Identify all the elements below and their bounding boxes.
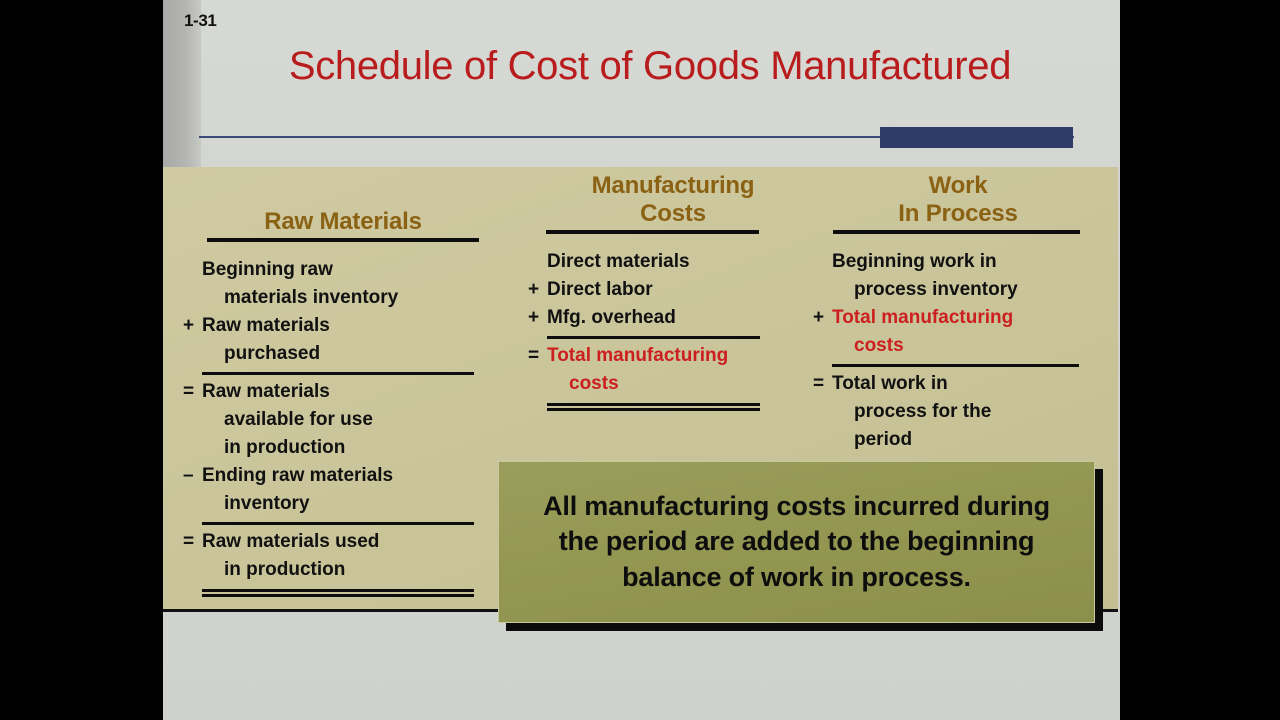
schedule-line-item: =Total manufacturing	[528, 342, 818, 370]
line-item-label: Raw materials	[202, 312, 330, 340]
column-heading-rule	[833, 230, 1080, 234]
line-item-operator: =	[183, 378, 202, 406]
schedule-line-item: =Raw materials	[183, 378, 503, 406]
line-item-operator: =	[528, 342, 547, 370]
subtotal-rule	[832, 364, 1079, 367]
line-item-label: Raw materials	[202, 378, 330, 406]
schedule-line-item: Direct materials	[528, 248, 818, 276]
column-heading-line: Costs	[528, 200, 818, 228]
line-item-label: Ending raw materials	[202, 462, 393, 490]
line-item-label: process for the	[832, 398, 991, 426]
line-item-label: period	[832, 426, 912, 454]
schedule-line-item: costs	[547, 370, 818, 398]
line-item-label: inventory	[202, 490, 310, 518]
slide-number: 1-31	[184, 11, 216, 31]
schedule-line-item: available for use	[202, 406, 503, 434]
schedule-line-item: +Mfg. overhead	[528, 304, 818, 332]
line-item-label: Total manufacturing	[832, 304, 1013, 332]
subtotal-rule	[202, 522, 474, 525]
schedule-line-item: in production	[202, 556, 503, 584]
line-item-operator: –	[183, 462, 202, 490]
schedule-line-item: costs	[832, 332, 1103, 360]
header-accent-block	[880, 127, 1073, 148]
column-raw-materials: Raw MaterialsBeginning rawmaterials inve…	[183, 167, 503, 592]
total-double-rule	[547, 403, 760, 406]
line-item-label: Total manufacturing	[547, 342, 728, 370]
line-item-label: process inventory	[832, 276, 1018, 304]
line-item-label: available for use	[202, 406, 373, 434]
column-heading: WorkIn Process	[813, 167, 1103, 228]
column-heading-rule	[546, 230, 759, 234]
line-item-label: Raw materials used	[202, 528, 379, 556]
presentation-slide: 1-31 Schedule of Cost of Goods Manufactu…	[0, 0, 1280, 720]
line-item-operator: +	[528, 304, 547, 332]
schedule-line-item: +Direct labor	[528, 276, 818, 304]
page-title: Schedule of Cost of Goods Manufactured	[200, 44, 1100, 89]
line-item-label: Total work in	[832, 370, 948, 398]
line-item-label: Beginning raw	[202, 256, 333, 284]
schedule-line-item: +Total manufacturing	[813, 304, 1103, 332]
subtotal-rule	[547, 336, 760, 339]
schedule-line-items: Beginning rawmaterials inventory+Raw mat…	[183, 256, 503, 592]
column-heading-line: Raw Materials	[183, 208, 503, 236]
line-item-label: Mfg. overhead	[547, 304, 676, 332]
total-double-rule	[202, 589, 474, 592]
column-manufacturing-costs: ManufacturingCostsDirect materials+Direc…	[528, 167, 818, 406]
line-item-label: in production	[202, 434, 345, 462]
callout-box: All manufacturing costs incurred during …	[498, 461, 1095, 623]
callout-text: All manufacturing costs incurred during …	[499, 489, 1094, 594]
line-item-label: costs	[832, 332, 904, 360]
line-item-label: in production	[202, 556, 345, 584]
schedule-line-item: Beginning raw	[183, 256, 503, 284]
schedule-line-item: –Ending raw materials	[183, 462, 503, 490]
column-heading-line: In Process	[813, 200, 1103, 228]
schedule-line-items: Beginning work inprocess inventory+Total…	[813, 248, 1103, 454]
schedule-line-item: materials inventory	[202, 284, 503, 312]
schedule-line-item: =Total work in	[813, 370, 1103, 398]
line-item-label: Direct labor	[547, 276, 653, 304]
column-heading-line: Work	[813, 172, 1103, 200]
column-heading-rule	[207, 238, 479, 242]
line-item-label: Beginning work in	[832, 248, 997, 276]
line-item-operator: +	[813, 304, 832, 332]
line-item-label: purchased	[202, 340, 320, 368]
line-item-label: Direct materials	[547, 248, 690, 276]
line-item-operator: +	[183, 312, 202, 340]
line-item-operator: +	[528, 276, 547, 304]
line-item-operator: =	[813, 370, 832, 398]
schedule-line-item: +Raw materials	[183, 312, 503, 340]
schedule-line-item: Beginning work in	[813, 248, 1103, 276]
schedule-line-item: purchased	[202, 340, 503, 368]
subtotal-rule	[202, 372, 474, 375]
line-item-operator: =	[183, 528, 202, 556]
column-work-in-process: WorkIn ProcessBeginning work inprocess i…	[813, 167, 1103, 454]
column-heading-line: Manufacturing	[528, 172, 818, 200]
column-heading: Raw Materials	[183, 167, 503, 236]
schedule-line-item: process inventory	[832, 276, 1103, 304]
schedule-line-item: process for the	[832, 398, 1103, 426]
schedule-line-items: Direct materials+Direct labor+Mfg. overh…	[528, 248, 818, 406]
schedule-line-item: inventory	[202, 490, 503, 518]
line-item-label: materials inventory	[202, 284, 398, 312]
column-heading: ManufacturingCosts	[528, 167, 818, 228]
schedule-line-item: in production	[202, 434, 503, 462]
schedule-line-item: =Raw materials used	[183, 528, 503, 556]
line-item-label: costs	[547, 370, 619, 398]
schedule-line-item: period	[832, 426, 1103, 454]
